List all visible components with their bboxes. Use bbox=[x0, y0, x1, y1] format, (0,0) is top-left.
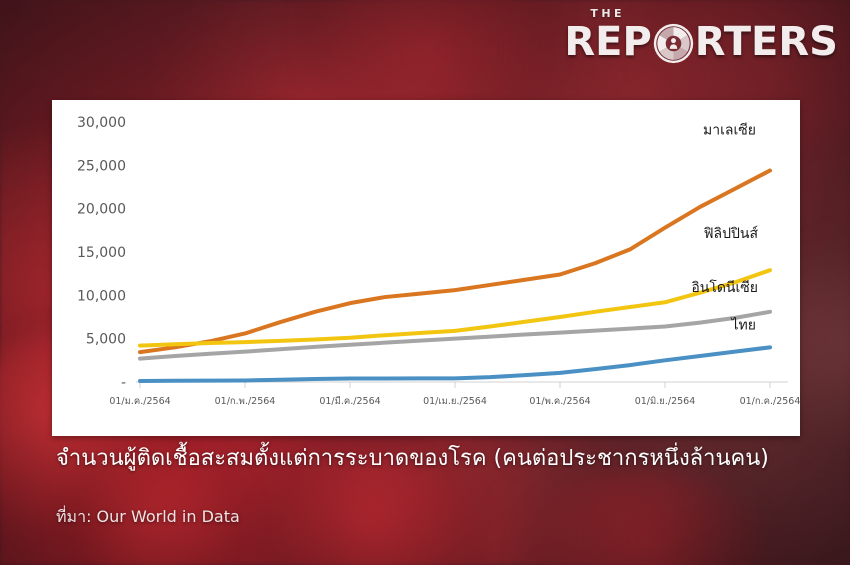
y-tick-label: 5,000 bbox=[86, 332, 126, 348]
logo-wordmark: REP bbox=[564, 21, 838, 62]
x-tick-label: 01/มิ.ย./2564 bbox=[635, 396, 696, 407]
y-axis-tick-labels: -5,00010,00015,00020,00025,00030,000 bbox=[77, 115, 126, 391]
y-tick-label: 30,000 bbox=[77, 115, 126, 131]
logo-the-text: THE bbox=[590, 8, 625, 19]
infographic-root: THE REP bbox=[0, 0, 850, 565]
x-axis-tick-labels: 01/ม.ค./256401/ก.พ./256401/มี.ค./256401/… bbox=[109, 382, 800, 407]
logo-text-part2: RTERS bbox=[695, 23, 838, 61]
logo-text-part1: REP bbox=[564, 23, 651, 61]
chart-panel: -5,00010,00015,00020,00025,00030,000 01/… bbox=[52, 100, 800, 436]
y-tick-label: 15,000 bbox=[77, 245, 126, 261]
x-tick-label: 01/มี.ค./2564 bbox=[319, 395, 380, 407]
series-label: มาเลเซีย bbox=[703, 123, 756, 139]
series-lines bbox=[140, 171, 770, 381]
y-tick-label: 25,000 bbox=[77, 158, 126, 174]
y-tick-label: 10,000 bbox=[77, 288, 126, 304]
line-chart: -5,00010,00015,00020,00025,00030,000 01/… bbox=[52, 100, 800, 436]
series-label: ฟิลิปปินส์ bbox=[704, 225, 759, 242]
logo: THE REP bbox=[564, 8, 838, 62]
x-tick-label: 01/พ.ค./2564 bbox=[529, 396, 590, 407]
y-tick-label: - bbox=[121, 375, 126, 391]
x-tick-label: 01/ก.พ./2564 bbox=[215, 396, 276, 407]
x-tick-label: 01/ม.ค./2564 bbox=[109, 396, 170, 407]
chart-caption: จำนวนผู้ติดเชื้อสะสมตั้งแต่การระบาดของโร… bbox=[56, 440, 846, 475]
y-tick-label: 20,000 bbox=[77, 202, 126, 218]
x-tick-label: 01/ก.ค./2564 bbox=[740, 396, 800, 407]
series-label: ไทย bbox=[731, 316, 756, 333]
series-labels: มาเลเซียฟิลิปปินส์อินโดนีเซียไทย bbox=[691, 123, 758, 334]
series-label: อินโดนีเซีย bbox=[691, 279, 758, 296]
x-tick-label: 01/เม.ย./2564 bbox=[423, 396, 487, 407]
camera-aperture-icon bbox=[653, 23, 694, 64]
chart-source: ที่มา: Our World in Data bbox=[56, 505, 240, 530]
